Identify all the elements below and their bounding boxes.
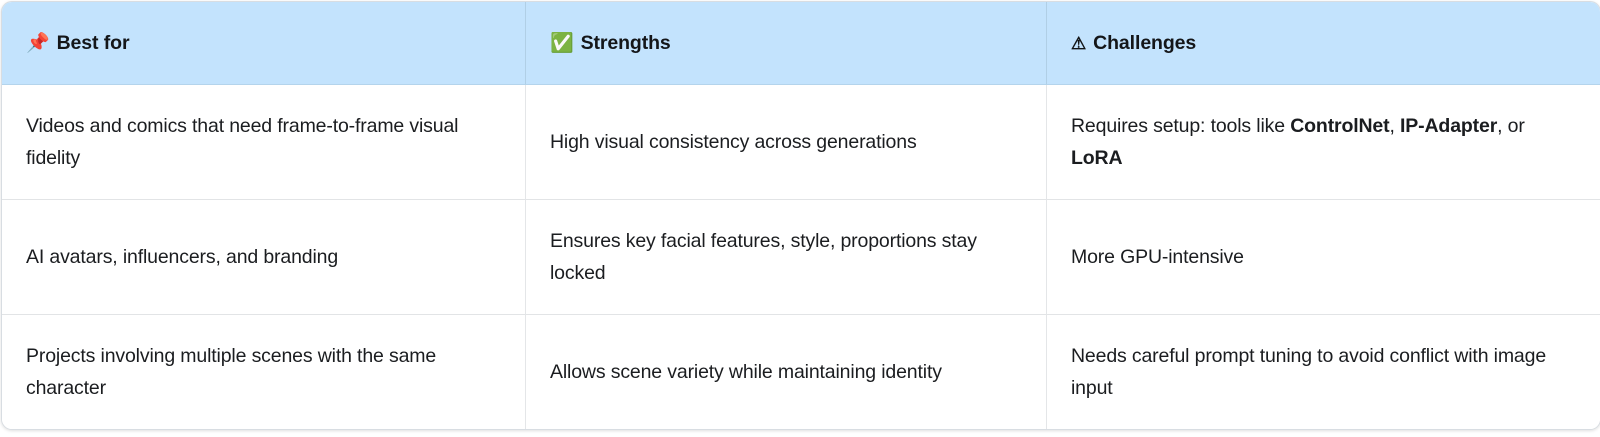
cell-strengths: Ensures key facial features, style, prop…	[526, 200, 1047, 315]
pushpin-icon: 📌	[26, 34, 50, 53]
column-header-label: Best for	[57, 32, 130, 55]
column-header-challenges: ⚠ Challenges	[1047, 2, 1600, 85]
table-header: 📌 Best for ✅ Strengths ⚠ Challenges	[2, 2, 1600, 85]
cell-challenges: Needs careful prompt tuning to avoid con…	[1047, 315, 1600, 429]
table-header-row: 📌 Best for ✅ Strengths ⚠ Challenges	[2, 2, 1600, 85]
table-body: Videos and comics that need frame-to-fra…	[2, 85, 1600, 429]
table-row: Projects involving multiple scenes with …	[2, 315, 1600, 429]
cell-best-for: Projects involving multiple scenes with …	[2, 315, 526, 429]
cell-text: High visual consistency across generatio…	[550, 126, 1022, 158]
table-row: Videos and comics that need frame-to-fra…	[2, 85, 1600, 200]
cell-text: Videos and comics that need frame-to-fra…	[26, 110, 501, 174]
comparison-table: 📌 Best for ✅ Strengths ⚠ Challenges	[1, 1, 1600, 430]
cell-text: Projects involving multiple scenes with …	[26, 340, 501, 404]
column-header-strengths: ✅ Strengths	[526, 2, 1047, 85]
warning-icon: ⚠	[1071, 35, 1086, 52]
cell-strengths: High visual consistency across generatio…	[526, 85, 1047, 200]
cell-text: Ensures key facial features, style, prop…	[550, 225, 1022, 289]
table-row: AI avatars, influencers, and branding En…	[2, 200, 1600, 315]
cell-challenges: More GPU-intensive	[1047, 200, 1600, 315]
cell-challenges: Requires setup: tools like ControlNet, I…	[1047, 85, 1600, 200]
cell-text: Allows scene variety while maintaining i…	[550, 356, 1022, 388]
cell-strengths: Allows scene variety while maintaining i…	[526, 315, 1047, 429]
column-header-label: Challenges	[1093, 32, 1196, 55]
comparison-table-container: 📌 Best for ✅ Strengths ⚠ Challenges	[0, 0, 1600, 437]
cell-best-for: AI avatars, influencers, and branding	[2, 200, 526, 315]
cell-text: Needs careful prompt tuning to avoid con…	[1071, 340, 1576, 404]
check-mark-button-icon: ✅	[550, 34, 574, 53]
cell-best-for: Videos and comics that need frame-to-fra…	[2, 85, 526, 200]
cell-text: More GPU-intensive	[1071, 241, 1576, 273]
column-header-best-for: 📌 Best for	[2, 2, 526, 85]
cell-text: AI avatars, influencers, and branding	[26, 241, 501, 273]
column-header-label: Strengths	[581, 32, 671, 55]
cell-text: Requires setup: tools like ControlNet, I…	[1071, 110, 1576, 174]
